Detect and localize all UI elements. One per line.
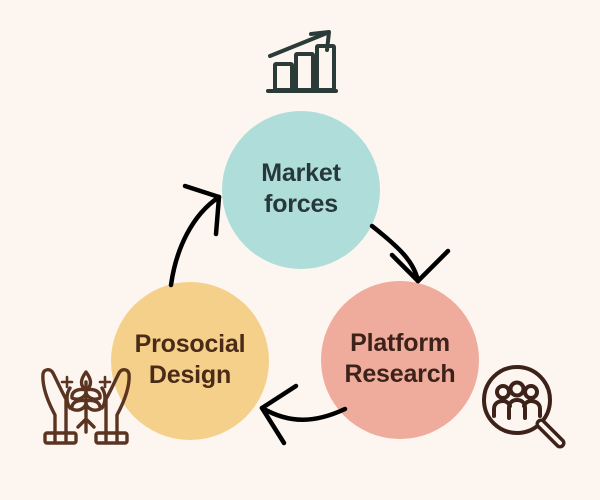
node-circle-prosocial-design[interactable] (111, 282, 269, 440)
magnifier-people-icon (484, 367, 560, 443)
arrow-market-to-platform (372, 226, 448, 281)
cycle-diagram-canvas (0, 0, 600, 500)
prosocial-design-cycle-diagram: Market forces Platform Research Prosocia… (0, 0, 600, 500)
arrow-prosocial-to-market (171, 186, 219, 285)
node-circle-platform-research[interactable] (321, 281, 479, 439)
growth-chart-icon (268, 32, 336, 91)
node-circle-market-forces[interactable] (222, 111, 380, 269)
hands-nurturing-plant-icon (43, 370, 129, 443)
